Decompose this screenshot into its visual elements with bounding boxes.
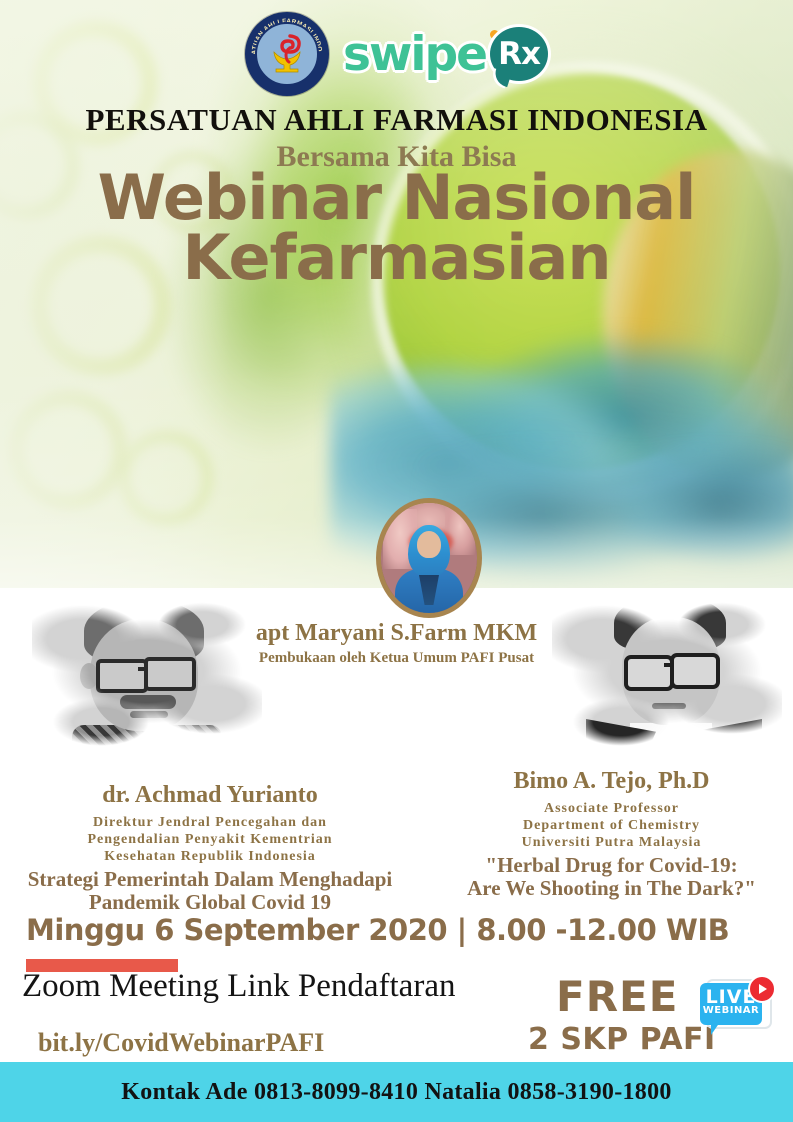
pafi-logo: PERSATUAN AHLI FARMASI INDONESIA ★ P A F… [245,12,329,96]
avatar-center-speaker [376,498,482,618]
eyeglasses-bridge [664,663,674,667]
right-speaker-info: Bimo A. Tejo, Ph.D Associate Professor D… [430,768,793,900]
skp-credits-label: 2 SKP PAFI [528,1022,716,1057]
left-speaker-topic: Strategi Pemerintah Dalam Menghadapi Pan… [0,868,420,914]
organization-title: PERSATUAN AHLI FARMASI INDONESIA [0,102,793,138]
badge-bubble-tail-icon [711,1022,720,1035]
right-speaker-affiliation: Associate Professor Department of Chemis… [430,800,793,852]
bowl-of-hygieia-icon [265,32,309,76]
left-speaker-affiliation: Direktur Jendral Pencegahan dan Pengenda… [0,814,420,866]
event-datetime: Minggu 6 September 2020 | 8.00 -12.00 WI… [26,913,729,947]
right-speaker-name: Bimo A. Tejo, Ph.D [430,768,793,795]
eyeglasses-right-lens [144,657,196,691]
photo-left-speaker [32,585,262,765]
eyeglasses-bridge [138,667,148,671]
rx-label: Rx [498,36,540,72]
left-speaker-name: dr. Achmad Yurianto [0,782,420,809]
eyeglasses-left-lens [96,659,148,693]
pafi-logo-field [255,22,319,86]
registration-platform-label: Zoom Meeting Link Pendaftaran [22,968,455,1005]
contact-footer: Kontak Ade 0813-8099-8410 Natalia 0858-3… [0,1062,793,1122]
rx-bubble-icon: Rx [490,27,548,81]
play-button-icon [748,975,776,1003]
free-label: FREE [556,972,678,1021]
contact-text: Kontak Ade 0813-8099-8410 Natalia 0858-3… [121,1079,671,1106]
left-speaker-info: dr. Achmad Yurianto Direktur Jendral Pen… [0,782,420,914]
live-webinar-badge: LIVE WEBINAR [700,975,776,1037]
photo-right-speaker [552,585,782,765]
mustache-shape [120,695,176,709]
title-line-2: Kefarmasian [0,228,793,288]
mouth-shape [652,703,686,709]
webinar-poster: PERSATUAN AHLI FARMASI INDONESIA ★ P A F… [0,0,793,1122]
mouth-shape [130,711,168,718]
center-speaker-face [417,531,441,558]
eyeglasses-right-lens [670,653,720,689]
registration-link[interactable]: bit.ly/CovidWebinarPAFI [38,1028,324,1058]
logo-row: PERSATUAN AHLI FARMASI INDONESIA ★ P A F… [0,8,793,100]
eyeglasses-left-lens [624,655,674,691]
page-title: Webinar Nasional Kefarmasian [0,168,793,288]
swiperx-logo: swipe Rx [343,27,548,82]
batik-shirt [72,725,222,765]
center-speaker-photo [381,503,477,613]
badge-webinar-label: WEBINAR [700,1005,762,1016]
right-speaker-topic: "Herbal Drug for Covid-19: Are We Shooti… [430,854,793,900]
swiperx-wordmark: swipe [343,27,486,82]
